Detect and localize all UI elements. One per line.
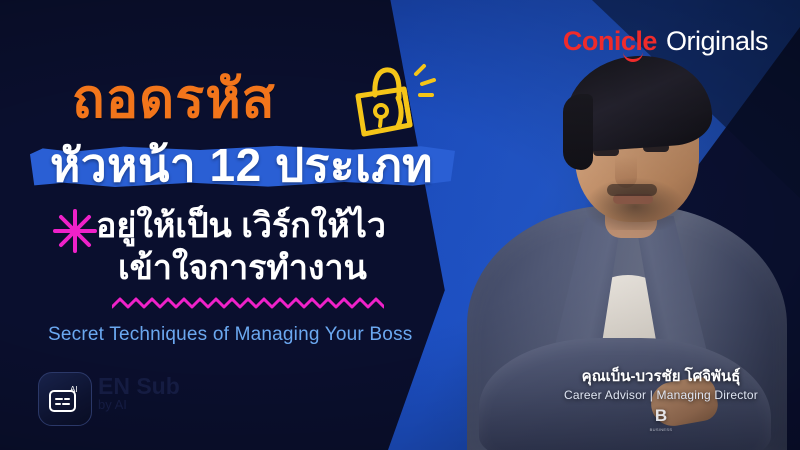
- photo-moustache: [607, 184, 657, 196]
- brand-name-secondary: Originals: [666, 26, 768, 57]
- headline-line-2: หัวหน้า 12 ประเภท: [50, 141, 433, 191]
- headline-line-2-wrap: หัวหน้า 12 ประเภท: [22, 140, 462, 198]
- photo-hair-side: [563, 94, 593, 170]
- headline-line-1: ถอดรหัส: [72, 72, 276, 126]
- headline-line-4: เข้าใจการทำงาน: [118, 248, 367, 288]
- speaker-caption: คุณเบ็น-บวรชัย โศจิพันธุ์ Career Advisor…: [538, 368, 784, 432]
- company-logo: B BUSINESS: [641, 406, 681, 432]
- zigzag-underline-icon: [112, 296, 384, 310]
- company-logo-subtext: BUSINESS: [641, 427, 681, 432]
- brand-logo: Conicle Originals: [563, 26, 768, 57]
- headline-line-3: อยู่ให้เป็น เวิร์กให้ไว: [96, 206, 386, 246]
- ai-badge-ghost-text: EN Sub by AI: [98, 374, 180, 412]
- ai-badge-title: EN Sub: [98, 373, 180, 399]
- brand-name-primary: Conicle: [563, 26, 657, 57]
- promo-thumbnail: Conicle Originals ถอดรหัส หั: [0, 0, 800, 450]
- speaker-name: คุณเบ็น-บวรชัย โศจิพันธุ์: [538, 368, 784, 387]
- company-logo-mark: B: [655, 406, 667, 425]
- headline-subtitle: Secret Techniques of Managing Your Boss: [48, 324, 412, 346]
- svg-text:AI: AI: [70, 385, 78, 394]
- padlock-icon: [348, 62, 440, 140]
- asterisk-star-icon: [52, 208, 98, 254]
- ai-subtitle-icon: AI: [48, 384, 82, 414]
- ai-badge-subtitle: by AI: [98, 398, 180, 412]
- speaker-role: Career Advisor | Managing Director: [538, 388, 784, 402]
- ai-subtitle-badge[interactable]: AI: [38, 372, 92, 426]
